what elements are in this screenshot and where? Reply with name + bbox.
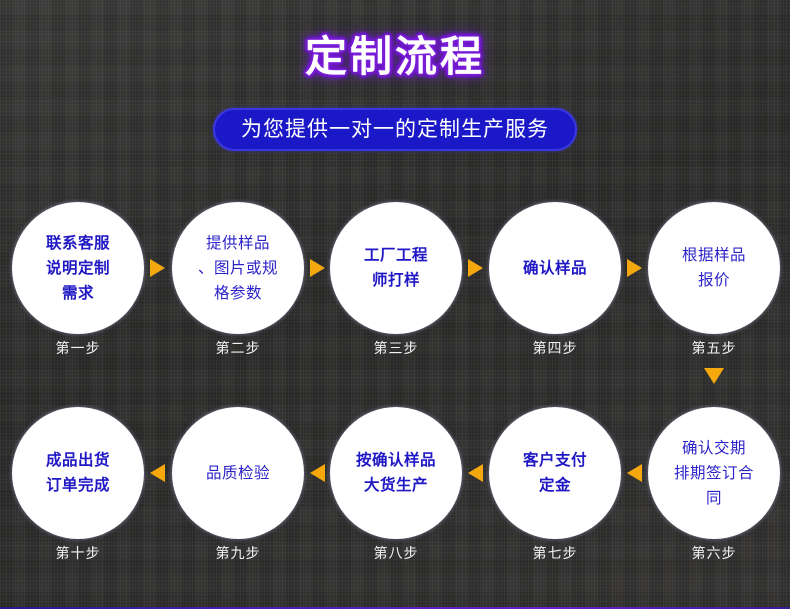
flow-bubble-text: 确认交期 排期签订合 同 (662, 436, 766, 511)
step-label: 第四步 (479, 340, 631, 358)
flow-bubble-text: 客户支付 定金 (503, 448, 607, 498)
flow-bubble-text: 根据样品 报价 (662, 243, 766, 293)
flow-bubble: 联系客服 说明定制 需求 (12, 202, 144, 334)
flow-text-line: 工厂工程 (344, 243, 448, 268)
subtitle-banner-wrap: 为您提供一对一的定制生产服务 (0, 108, 790, 151)
page-title: 定制流程 (0, 32, 790, 82)
flow-bubble: 按确认样品 大货生产 (330, 407, 462, 539)
flow-text-line: 提供样品 (186, 231, 290, 256)
arrow-left-icon (310, 464, 325, 482)
flow-node-step-4[interactable]: 确认样品 第四步 (489, 202, 621, 334)
flow-text-line: 按确认样品 (344, 448, 448, 473)
flow-text-line: 订单完成 (26, 473, 130, 498)
flow-bubble-text: 联系客服 说明定制 需求 (26, 231, 130, 306)
custom-process-infographic: 定制流程 为您提供一对一的定制生产服务 联系客服 说明定制 需求 第一步 提供样… (0, 0, 790, 609)
flow-text-line: 需求 (26, 281, 130, 306)
arrow-right-icon (627, 259, 642, 277)
flow-text-line: 确认交期 (662, 436, 766, 461)
flow-node-step-6[interactable]: 确认交期 排期签订合 同 第六步 (648, 407, 780, 539)
flow-node-step-9[interactable]: 品质检验 第九步 (172, 407, 304, 539)
arrow-left-icon (468, 464, 483, 482)
flow-bubble: 客户支付 定金 (489, 407, 621, 539)
step-label: 第十步 (2, 545, 154, 563)
flow-bubble-text: 成品出货 订单完成 (26, 448, 130, 498)
flow-bubble: 成品出货 订单完成 (12, 407, 144, 539)
arrow-left-icon (150, 464, 165, 482)
flow-text-line: 大货生产 (344, 473, 448, 498)
flow-node-step-5[interactable]: 根据样品 报价 第五步 (648, 202, 780, 334)
flow-bubble-text: 提供样品 、图片或规 格参数 (186, 231, 290, 306)
flow-node-step-7[interactable]: 客户支付 定金 第七步 (489, 407, 621, 539)
flow-bubble: 确认样品 (489, 202, 621, 334)
step-label: 第六步 (638, 545, 790, 563)
flow-node-step-8[interactable]: 按确认样品 大货生产 第八步 (330, 407, 462, 539)
flow-text-line: 品质检验 (186, 461, 290, 486)
step-label: 第三步 (320, 340, 472, 358)
flow-text-line: 确认样品 (503, 256, 607, 281)
flow-node-step-2[interactable]: 提供样品 、图片或规 格参数 第二步 (172, 202, 304, 334)
flow-text-line: 格参数 (186, 281, 290, 306)
flow-text-line: 排期签订合 (662, 461, 766, 486)
flow-text-line: 同 (662, 486, 766, 511)
flow-text-line: 根据样品 (662, 243, 766, 268)
flow-text-line: 报价 (662, 268, 766, 293)
step-label: 第五步 (638, 340, 790, 358)
step-label: 第七步 (479, 545, 631, 563)
flow-text-line: 客户支付 (503, 448, 607, 473)
flow-bubble: 确认交期 排期签订合 同 (648, 407, 780, 539)
flow-text-line: 师打样 (344, 268, 448, 293)
flow-bubble-text: 工厂工程 师打样 (344, 243, 448, 293)
arrow-left-icon (627, 464, 642, 482)
flow-bubble-text: 确认样品 (503, 256, 607, 281)
flow-text-line: 联系客服 (26, 231, 130, 256)
flow-node-step-3[interactable]: 工厂工程 师打样 第三步 (330, 202, 462, 334)
flow-bubble-text: 品质检验 (186, 461, 290, 486)
step-label: 第二步 (162, 340, 314, 358)
flow-text-line: 成品出货 (26, 448, 130, 473)
arrow-right-icon (150, 259, 165, 277)
step-label: 第八步 (320, 545, 472, 563)
flow-bubble: 品质检验 (172, 407, 304, 539)
flow-node-step-1[interactable]: 联系客服 说明定制 需求 第一步 (12, 202, 144, 334)
flow-text-line: 说明定制 (26, 256, 130, 281)
arrow-right-icon (310, 259, 325, 277)
subtitle-banner: 为您提供一对一的定制生产服务 (213, 108, 577, 151)
flow-node-step-10[interactable]: 成品出货 订单完成 第十步 (12, 407, 144, 539)
flow-text-line: 、图片或规 (186, 256, 290, 281)
flow-bubble-text: 按确认样品 大货生产 (344, 448, 448, 498)
flow-bubble: 工厂工程 师打样 (330, 202, 462, 334)
step-label: 第一步 (2, 340, 154, 358)
arrow-right-icon (468, 259, 483, 277)
step-label: 第九步 (162, 545, 314, 563)
flow-bubble: 提供样品 、图片或规 格参数 (172, 202, 304, 334)
arrow-down-icon (704, 368, 724, 384)
flow-bubble: 根据样品 报价 (648, 202, 780, 334)
flow-text-line: 定金 (503, 473, 607, 498)
